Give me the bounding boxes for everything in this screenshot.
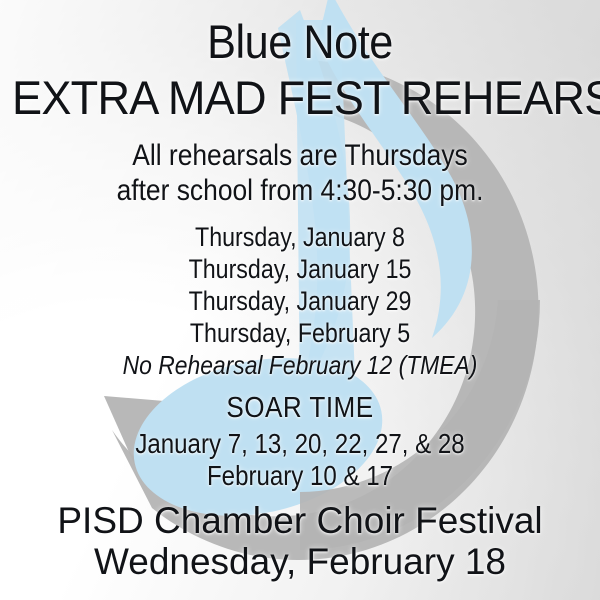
page-subtitle: EXTRA MAD FEST REHEARSALS: [12, 70, 588, 125]
soar-time-heading: SOAR TIME: [30, 392, 570, 425]
poster-canvas: Blue Note EXTRA MAD FEST REHEARSALS All …: [0, 0, 600, 600]
soar-date-line-1: January 7, 13, 20, 22, 27, & 28: [42, 428, 558, 460]
poster-text-layer: Blue Note EXTRA MAD FEST REHEARSALS All …: [0, 0, 600, 600]
rehearsal-date-2: Thursday, January 15: [42, 254, 558, 285]
info-line-2: after school from 4:30-5:30 pm.: [36, 174, 564, 208]
footer-line-2: Wednesday, February 18: [0, 541, 600, 583]
rehearsal-date-4: Thursday, February 5: [42, 318, 558, 349]
soar-date-line-2: February 10 & 17: [42, 460, 558, 492]
no-rehearsal-note: No Rehearsal February 12 (TMEA): [36, 350, 564, 381]
info-line-1: All rehearsals are Thursdays: [36, 139, 564, 173]
rehearsal-date-3: Thursday, January 29: [42, 286, 558, 317]
rehearsal-date-1: Thursday, January 8: [42, 222, 558, 253]
footer-line-1: PISD Chamber Choir Festival: [0, 500, 600, 542]
page-title: Blue Note: [24, 14, 576, 69]
